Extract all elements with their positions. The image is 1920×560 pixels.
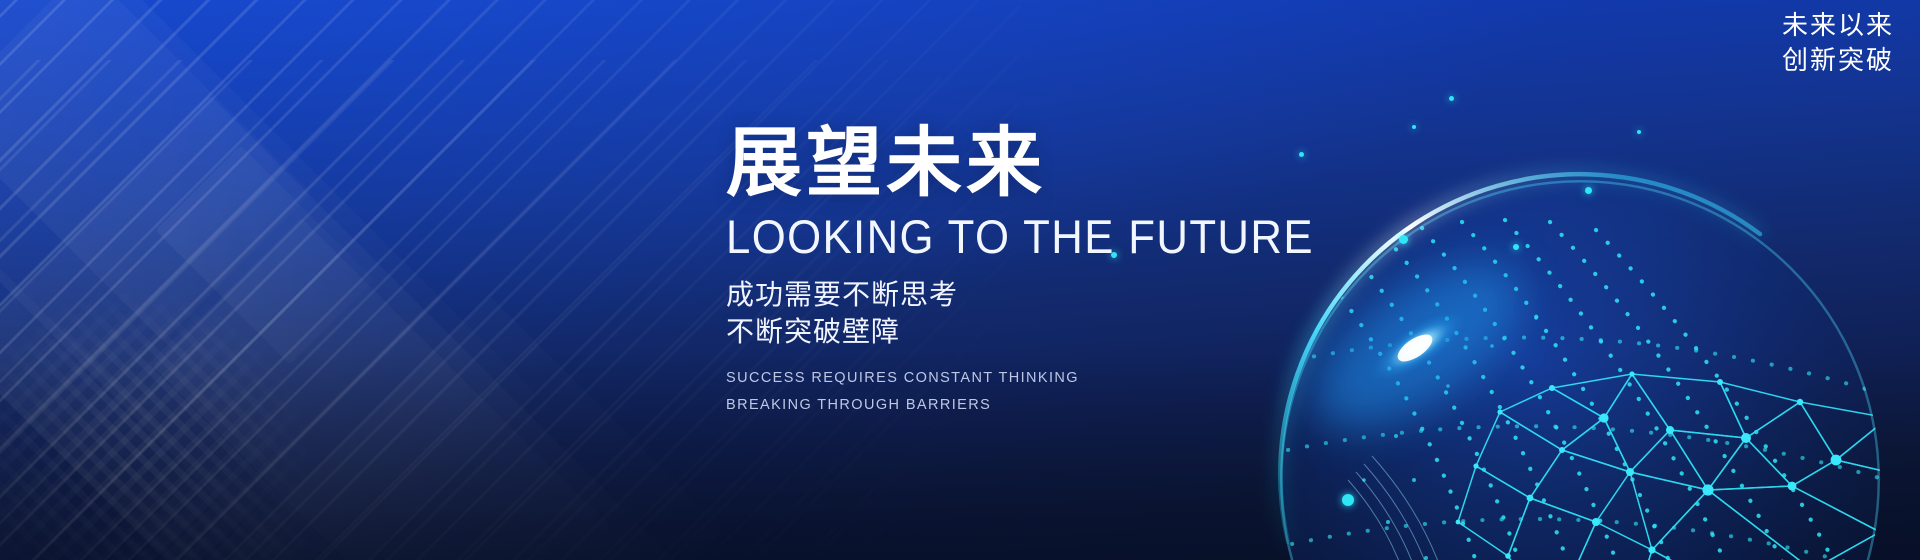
deco-slab [0,95,705,560]
corner-slogan: 未来以来 创新突破 [1782,8,1894,79]
chinese-tagline-line: 不断突破壁障 [726,313,1366,350]
accent-dot [1399,235,1408,244]
corner-slogan-line: 创新突破 [1782,43,1894,78]
accent-dot [1412,125,1416,129]
globe-flare [1360,298,1475,394]
deco-slab [153,218,697,560]
accent-dot [1513,244,1519,250]
accent-dot [1637,130,1641,134]
dot-grid-pattern [0,350,440,560]
deco-slab [0,0,311,341]
corner-slogan-line: 未来以来 [1782,8,1894,43]
banner-root: 展望未来 LOOKING TO THE FUTURE 成功需要不断思考 不断突破… [0,0,1920,560]
deco-slab [0,0,535,560]
deco-slab [0,208,307,560]
english-tagline-line: SUCCESS REQUIRES CONSTANT THINKING [726,365,1366,392]
chinese-tagline-group: 成功需要不断思考 不断突破壁障 [726,276,1366,350]
english-tagline-group: SUCCESS REQUIRES CONSTANT THINKING BREAK… [726,365,1366,419]
dot-grid-pattern [0,161,439,560]
accent-dot [1449,96,1454,101]
deco-slab [155,145,374,364]
chinese-tagline-line: 成功需要不断思考 [726,276,1366,313]
subtitle-english: LOOKING TO THE FUTURE [726,211,1321,263]
deco-slab [186,296,723,560]
page-title: 展望未来 [726,124,1366,205]
accent-dot [1342,494,1354,506]
headline-copy-block: 展望未来 LOOKING TO THE FUTURE 成功需要不断思考 不断突破… [726,124,1366,418]
english-tagline-line: BREAKING THROUGH BARRIERS [726,392,1366,419]
deco-slab [0,322,148,560]
accent-dot [1585,187,1592,194]
